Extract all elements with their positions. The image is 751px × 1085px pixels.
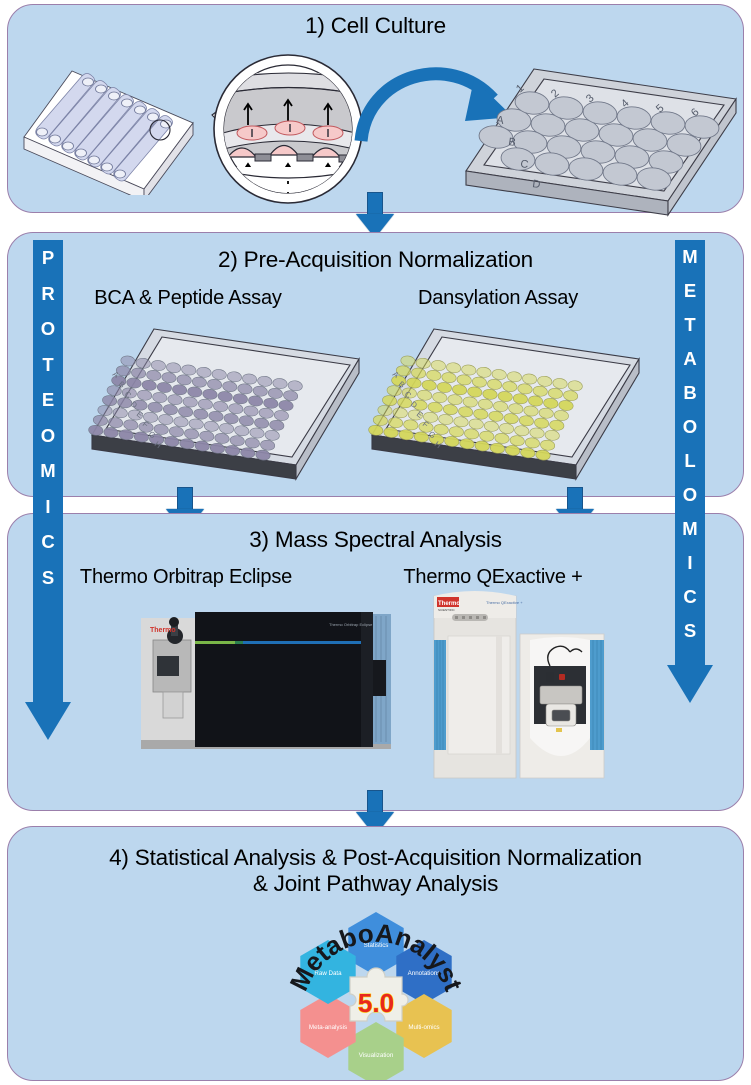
- assay-label-dansylation: Dansylation Assay: [353, 287, 643, 310]
- panel-2-title: 2) Pre-Acquisition Normalization: [8, 247, 743, 273]
- panel-1-title: 1) Cell Culture: [8, 13, 743, 39]
- panel-4-title-line-2: & Joint Pathway Analysis: [8, 871, 743, 897]
- metabolomics-arrow-head: [667, 665, 713, 703]
- metaboanalyst-logo: Statistics Annotations Multi-omics Visua…: [281, 908, 471, 1080]
- arrow-letter: R: [33, 276, 63, 312]
- arrow-letter: M: [675, 240, 705, 274]
- plate96-dansylation-illustration: A B C D E F G H: [368, 325, 643, 485]
- arrow-letter: O: [675, 478, 705, 512]
- arrow-letter: A: [675, 342, 705, 376]
- arrow-letter: E: [33, 382, 63, 418]
- microfluidic-chip-illustration: [20, 65, 195, 195]
- transwell-membrane-zoom-illustration: [204, 51, 364, 211]
- panel-3-title: 3) Mass Spectral Analysis: [8, 527, 743, 553]
- arrow-shaft: [177, 487, 193, 511]
- arrow-shaft: [367, 790, 383, 814]
- hex-visualization-label: Visualization: [359, 1052, 394, 1059]
- arrow-letter: O: [675, 410, 705, 444]
- arrow-shaft: [367, 192, 383, 216]
- thermo-brand-orbitrap: Thermo: [150, 627, 176, 634]
- arrow-letter: C: [33, 524, 63, 560]
- thermo-brand-sub-qexactive: SCIENTIFIC: [438, 608, 456, 612]
- multiwell-plate-24-illustration: A B C D 1 2 3 4 5 6: [460, 63, 740, 218]
- metabolomics-arrow-letters: METABOLOMICS: [675, 240, 705, 648]
- proteomics-arrow-head: [25, 702, 71, 740]
- arrow-letter: O: [33, 311, 63, 347]
- arrow-letter: I: [33, 489, 63, 525]
- arrow-letter: O: [33, 418, 63, 454]
- thermo-brand-qexactive: Thermo: [438, 601, 460, 607]
- hex-multi-omics-label: Multi-omics: [408, 1024, 439, 1031]
- arrow-letter: S: [675, 614, 705, 648]
- instrument-label-orbitrap: Thermo Orbitrap Eclipse: [36, 566, 336, 589]
- qexactive-model-badge: Thermo QExactive +: [486, 600, 523, 605]
- arrow-letter: B: [675, 376, 705, 410]
- arrow-letter: T: [675, 308, 705, 342]
- arrow-letter: M: [675, 512, 705, 546]
- orbitrap-model-badge: Thermo Orbitrap Eclipse: [329, 622, 373, 627]
- arrow-letter: C: [675, 580, 705, 614]
- arrow-letter: T: [33, 347, 63, 383]
- plate96-bca-illustration: A B C D E F G H: [88, 325, 363, 485]
- hex-meta-analysis-label: Meta-analysis: [309, 1024, 347, 1031]
- orbitrap-eclipse-instrument: Thermo Thermo Orbitrap Eclipse: [133, 600, 396, 775]
- arrow-letter: M: [33, 453, 63, 489]
- proteomics-arrow-letters: PROTEOMICS: [33, 240, 63, 595]
- logo-version-text: 5.0: [358, 988, 394, 1018]
- panel-4-title-line-1: 4) Statistical Analysis & Post-Acquisiti…: [8, 845, 743, 871]
- qexactive-instrument: Thermo SCIENTIFIC Thermo QExactive +: [424, 588, 624, 788]
- arrow-letter: P: [33, 240, 63, 276]
- arrow-letter: E: [675, 274, 705, 308]
- arrow-letter: I: [675, 546, 705, 580]
- panel-cell-culture: 1) Cell Culture: [7, 4, 744, 213]
- arrow-letter: L: [675, 444, 705, 478]
- hex-visualization: Visualization: [348, 1022, 403, 1080]
- arrow-shaft: [567, 487, 583, 511]
- instrument-label-qexactive: Thermo QExactive +: [348, 566, 638, 589]
- assay-label-bca: BCA & Peptide Assay: [43, 287, 333, 310]
- arrow-letter: S: [33, 560, 63, 596]
